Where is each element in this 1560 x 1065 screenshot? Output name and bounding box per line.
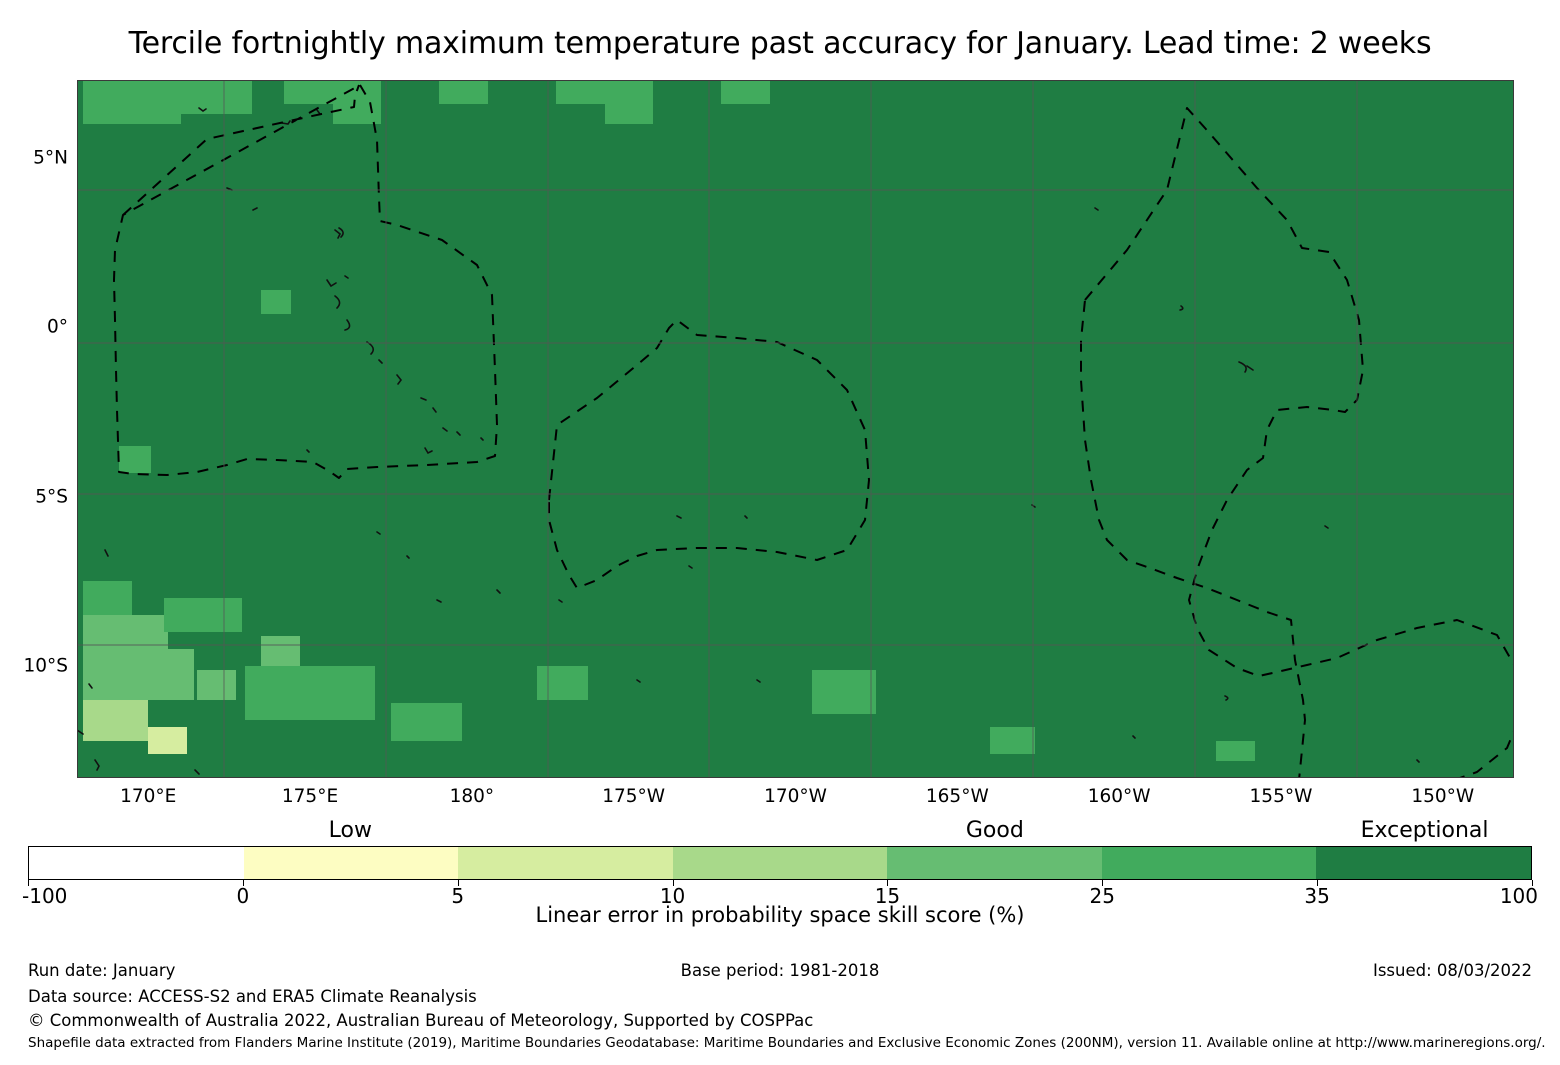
colorbar-segment (1316, 847, 1531, 879)
colorbar-tick-mark (673, 880, 674, 886)
y-axis-tick-label: 5°N (33, 147, 68, 168)
y-axis-tick-label: 10°S (23, 656, 68, 677)
colorbar-segment (673, 847, 888, 879)
map-gridlines (77, 80, 1514, 778)
x-axis-tick-label: 175°E (282, 786, 338, 807)
colorbar-tick-mark (1102, 880, 1103, 886)
x-axis-tick-label: 175°W (602, 786, 665, 807)
x-axis-tick-label: 150°W (1411, 786, 1474, 807)
colorbar-segment (887, 847, 1102, 879)
colorbar-quality-label: Good (966, 818, 1024, 843)
x-axis-tick-label: 160°W (1088, 786, 1151, 807)
colorbar-tick-mark (243, 880, 244, 886)
colorbar-segment (458, 847, 673, 879)
colorbar-segment (29, 847, 244, 879)
data-source-text: Data source: ACCESS-S2 and ERA5 Climate … (28, 987, 477, 1006)
copyright-text: © Commonwealth of Australia 2022, Austra… (28, 1011, 813, 1030)
colorbar-tick-mark (1532, 880, 1533, 886)
colorbar-gradient (28, 846, 1532, 880)
shapefile-attribution-text: Shapefile data extracted from Flanders M… (28, 1035, 1546, 1051)
x-axis-tick-label: 180° (450, 786, 495, 807)
base-period-text: Base period: 1981-2018 (681, 961, 880, 980)
colorbar-quality-label: Exceptional (1361, 818, 1489, 843)
colorbar-tick-mark (458, 880, 459, 886)
figure-title: Tercile fortnightly maximum temperature … (0, 26, 1560, 61)
colorbar-segment (1102, 847, 1317, 879)
colorbar-caption: Linear error in probability space skill … (0, 903, 1560, 927)
x-axis-tick-label: 170°W (764, 786, 827, 807)
colorbar[interactable] (28, 846, 1532, 880)
map-plot-area[interactable] (77, 80, 1514, 778)
y-axis-tick-label: 0° (47, 317, 68, 338)
x-axis-tick-label: 170°E (120, 786, 176, 807)
colorbar-segment (244, 847, 459, 879)
x-axis-tick-label: 165°W (926, 786, 989, 807)
colorbar-tick-mark (1317, 880, 1318, 886)
colorbar-tick-mark (28, 880, 29, 886)
colorbar-tick-mark (887, 880, 888, 886)
x-axis-tick-label: 155°W (1250, 786, 1313, 807)
map-canvas (77, 80, 1514, 778)
colorbar-quality-label: Low (329, 818, 372, 843)
run-date-text: Run date: January (28, 961, 175, 980)
y-axis-tick-label: 5°S (35, 486, 68, 507)
figure-root: Tercile fortnightly maximum temperature … (0, 0, 1560, 1065)
issued-date-text: Issued: 08/03/2022 (1373, 961, 1532, 980)
